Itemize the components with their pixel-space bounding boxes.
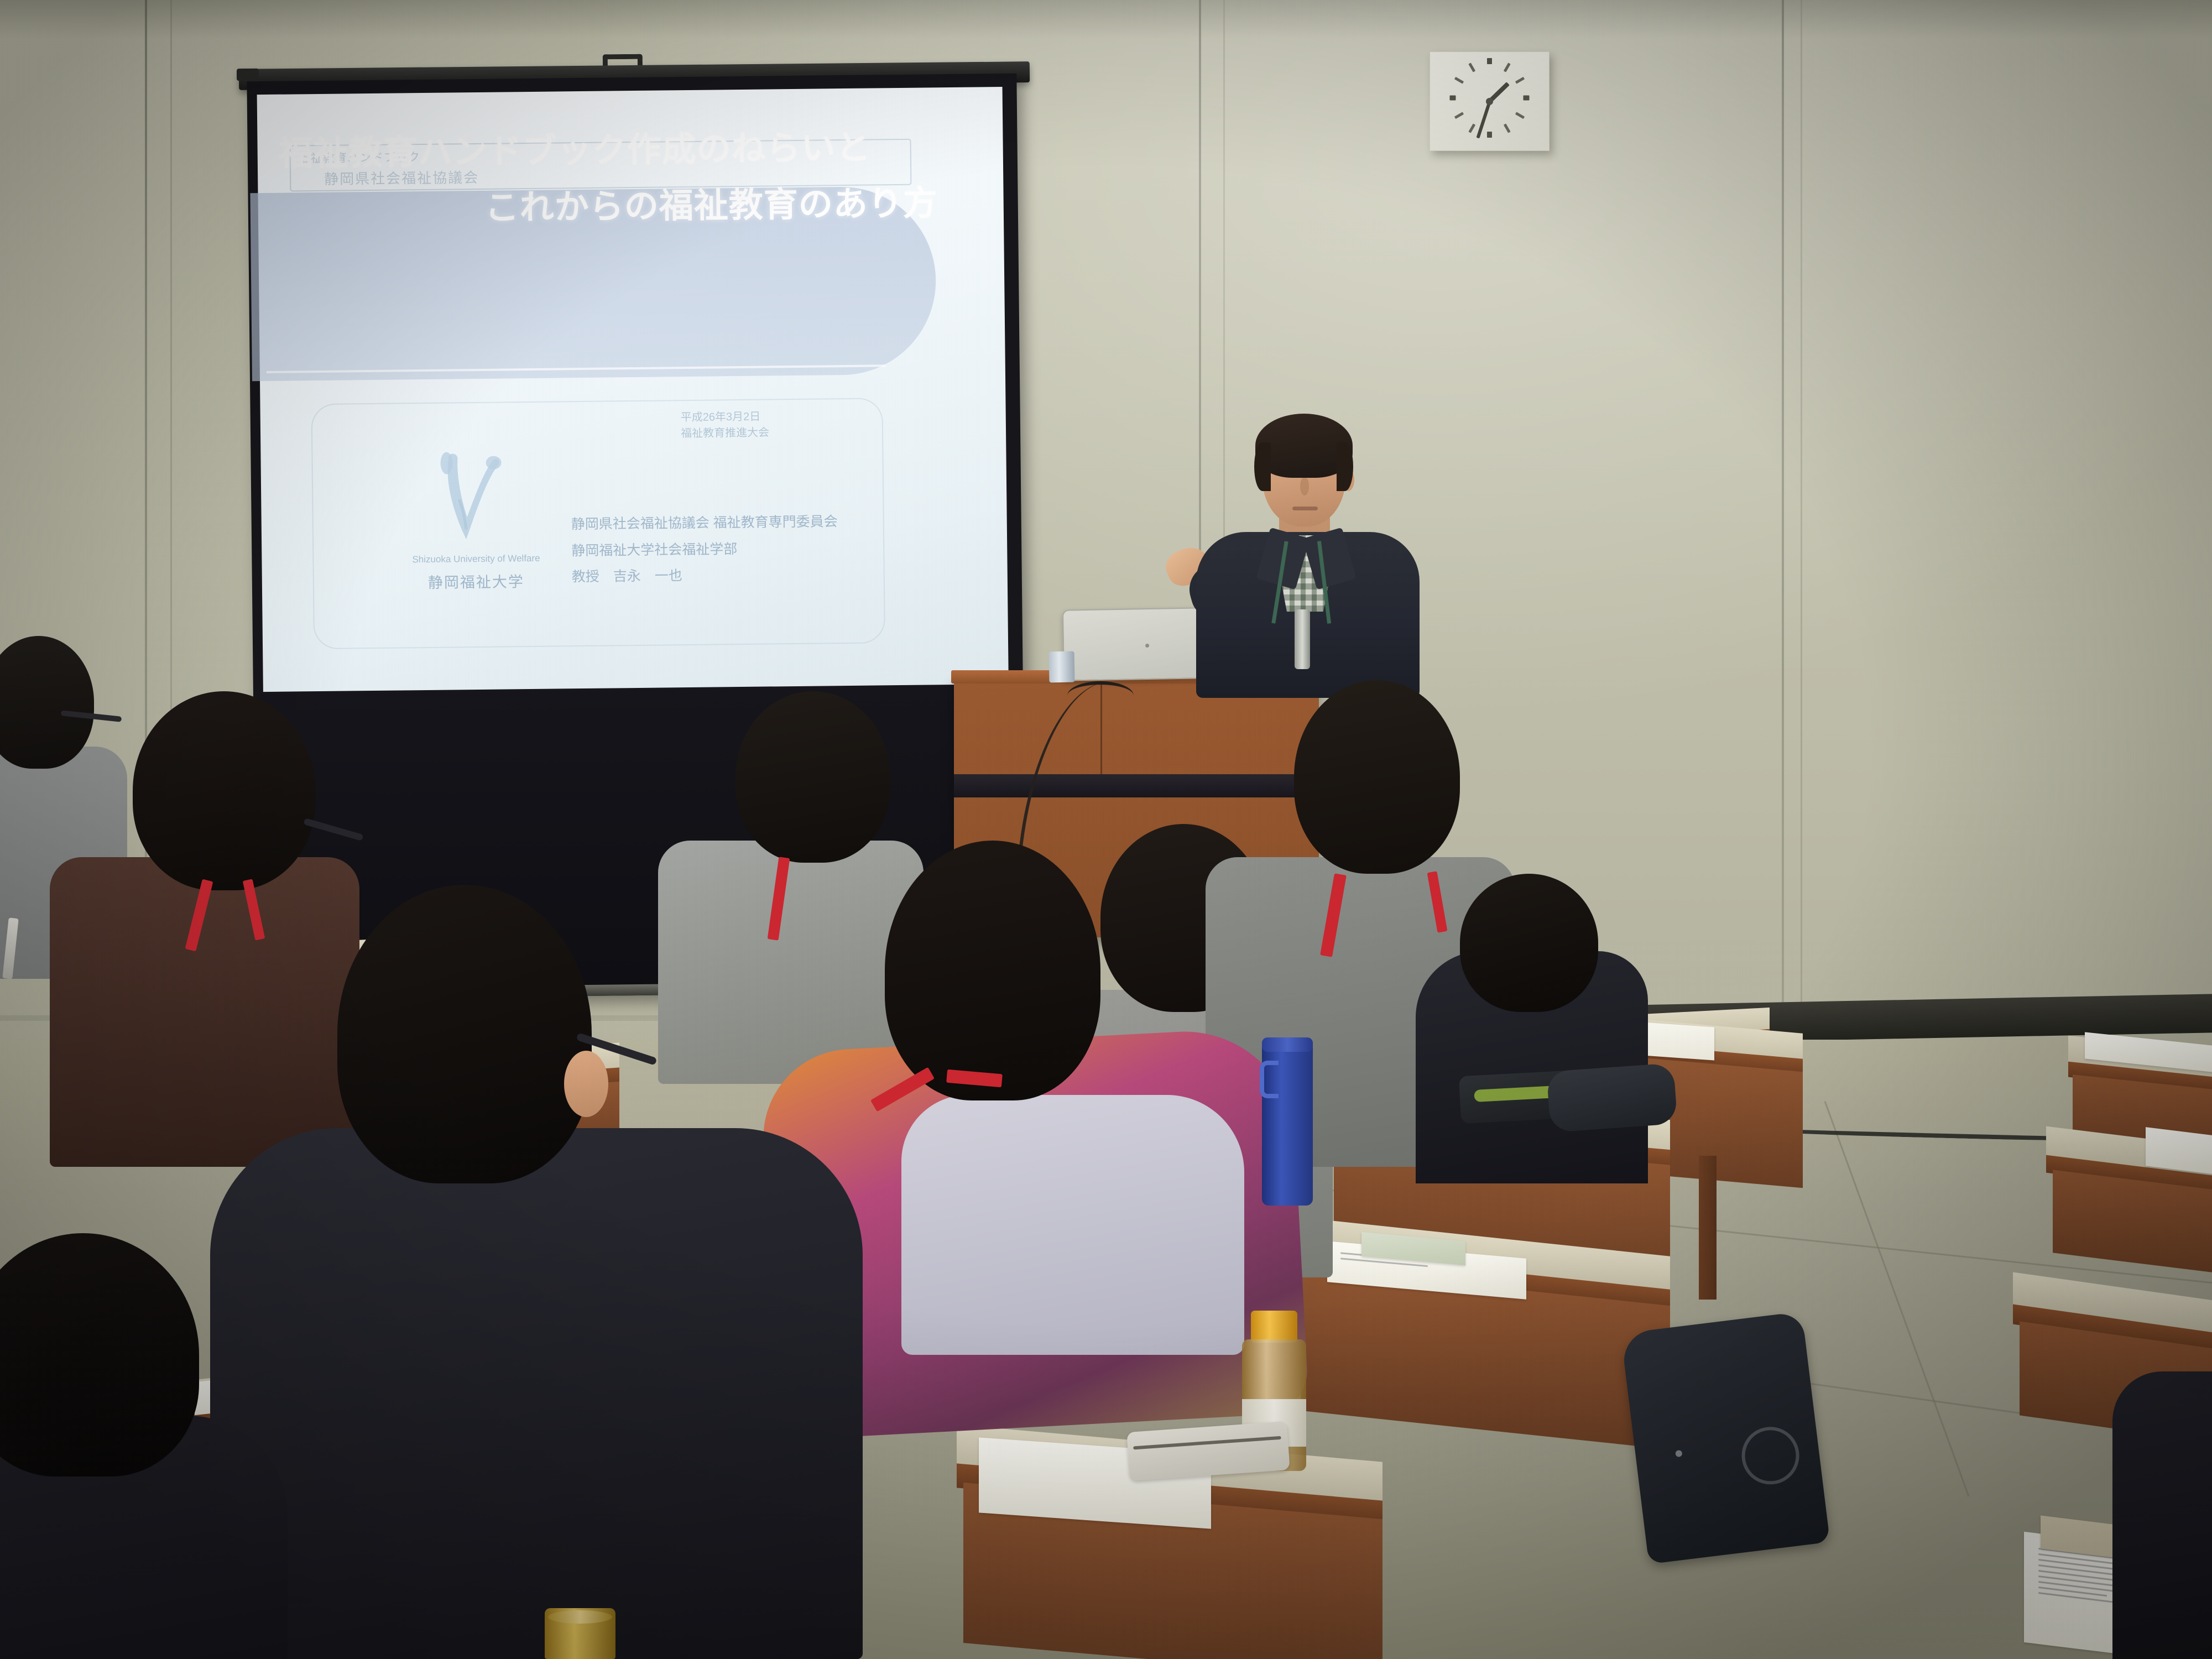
clock-tick-12 [1487, 58, 1492, 64]
attendee-head [885, 841, 1100, 1100]
slide-meta: 平成26年3月2日 福祉教育推進大会 [681, 409, 770, 442]
backpack-emblem-icon [1739, 1423, 1803, 1488]
podium-cable [1067, 681, 1134, 710]
slide-title-line1: 福祉教育ハンドブック作成のねらいと [278, 119, 871, 175]
beverage-can [1049, 651, 1075, 683]
ceiling-shadow [0, 0, 2212, 39]
attendee-suit-jacket [210, 1128, 863, 1659]
slide-title-underline [267, 364, 886, 373]
slide-affiliation-line2: 静岡福祉大学社会福祉学部 [571, 535, 838, 565]
clock-center-pin [1486, 98, 1493, 105]
clock-tick-7 [1468, 123, 1475, 133]
thermos-hook [1260, 1061, 1279, 1098]
clock-tick-8 [1454, 112, 1464, 119]
clock-tick-6 [1487, 132, 1492, 138]
wall-panel-seam [1782, 0, 1784, 1084]
wall-panel-seam [1801, 0, 1802, 1084]
clock-tick-1 [1504, 62, 1511, 72]
attendee-head [735, 691, 890, 863]
microphone [1295, 609, 1310, 669]
slide-meta-line1: 平成26年3月2日 [681, 409, 769, 426]
slide-meta-line2: 福祉教育推進大会 [681, 425, 769, 442]
presenter [1164, 404, 1452, 697]
lecture-hall-photo: 福祉教育ハンドブック 静岡県社会福祉協議会 福祉教育ハンドブック作成のねらいと … [0, 0, 2212, 1659]
slide-affiliation: 静岡県社会福祉協議会 福祉教育専門委員会 静岡福祉大学社会福祉学部 教授 吉永 … [571, 509, 838, 591]
black-backpack [1621, 1311, 1830, 1564]
wall-clock [1430, 51, 1550, 151]
bag-strap [1546, 1063, 1677, 1133]
slide-logo-english: Shizuoka University of Welfare [412, 553, 539, 565]
slide-affiliation-line1: 静岡県社会福祉協議会 福祉教育専門委員会 [571, 509, 838, 538]
attendee-ear [564, 1051, 608, 1117]
university-logo-icon [426, 446, 510, 552]
presenter-hair-side [1337, 442, 1353, 491]
clock-face [1430, 52, 1549, 150]
attendee-head [337, 885, 592, 1183]
gold-can [545, 1608, 615, 1659]
clock-tick-9 [1450, 96, 1456, 101]
projected-slide: 福祉教育ハンドブック 静岡県社会福祉協議会 福祉教育ハンドブック作成のねらいと … [257, 87, 1009, 692]
presenter-hair-side [1254, 442, 1271, 491]
attendee-sweater [901, 1095, 1244, 1355]
attendee-head [1294, 680, 1460, 874]
laptop-logo-dot [1145, 644, 1149, 648]
attendee-torso [2112, 1371, 2212, 1659]
slide-logo-japanese: 静岡福祉大学 [413, 570, 540, 592]
thermos-cap [1262, 1037, 1313, 1052]
backpack-stud [1675, 1450, 1682, 1457]
clock-tick-2 [1515, 77, 1525, 84]
slide-title-line2: これからの福祉教育のあり方 [484, 175, 938, 229]
clock-tick-11 [1468, 62, 1475, 72]
attendee-head [133, 691, 315, 890]
presenter-nose [1300, 477, 1309, 495]
attendee-head [1460, 874, 1598, 1012]
bottle-cap [1251, 1311, 1297, 1343]
can-rim [548, 1610, 612, 1624]
slide-content: 福祉教育ハンドブック 静岡県社会福祉協議会 福祉教育ハンドブック作成のねらいと … [257, 87, 1009, 692]
clock-tick-5 [1504, 123, 1511, 133]
clock-tick-3 [1524, 96, 1530, 101]
presenter-mouth [1292, 507, 1318, 510]
clock-tick-4 [1515, 112, 1525, 119]
screen-endcap [237, 69, 259, 81]
zipper [1133, 1436, 1281, 1450]
desk-leg [1699, 1156, 1717, 1300]
slide-presenter-name: 教授 吉永 一也 [572, 561, 838, 591]
clock-tick-10 [1454, 77, 1464, 84]
